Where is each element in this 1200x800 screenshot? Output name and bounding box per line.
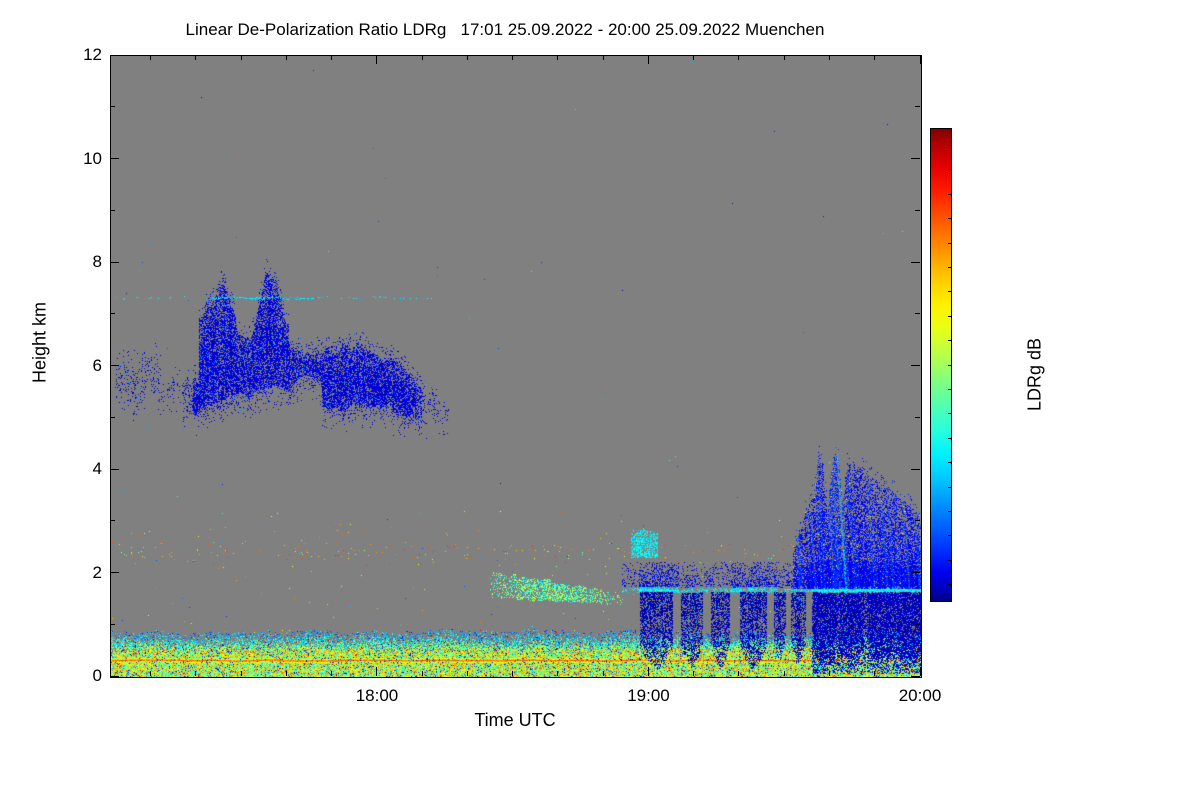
y-tick-label: 4 xyxy=(93,459,102,479)
colorbar-tick xyxy=(948,316,952,317)
x-tick-group xyxy=(110,55,920,676)
colorbar-tick xyxy=(948,535,952,536)
x-tick xyxy=(648,667,649,676)
x-tick xyxy=(512,55,513,60)
x-tick xyxy=(693,671,694,676)
x-tick xyxy=(422,671,423,676)
colorbar-tick xyxy=(948,584,952,585)
x-axis-title: Time UTC xyxy=(110,710,920,731)
x-tick xyxy=(829,55,830,60)
x-tick xyxy=(603,671,604,676)
colorbar-tick xyxy=(948,413,952,414)
colorbar-labels xyxy=(956,128,1016,600)
x-tick xyxy=(422,55,423,60)
colorbar-ticks xyxy=(930,128,952,600)
colorbar-title: LDRg dB xyxy=(1025,295,1046,455)
x-tick xyxy=(286,55,287,60)
x-tick xyxy=(920,55,921,64)
colorbar-tick xyxy=(948,340,952,341)
y-tick-label: 12 xyxy=(83,45,102,65)
x-tick xyxy=(331,55,332,60)
colorbar-tick xyxy=(948,169,952,170)
x-tick xyxy=(603,55,604,60)
y-tick-label: 10 xyxy=(83,149,102,169)
x-tick xyxy=(784,671,785,676)
colorbar-tick xyxy=(948,560,952,561)
x-tick xyxy=(693,55,694,60)
x-tick xyxy=(331,671,332,676)
x-tick xyxy=(376,55,377,64)
y-tick-label: 2 xyxy=(93,563,102,583)
x-tick xyxy=(150,671,151,676)
y-tick-label: 0 xyxy=(93,666,102,686)
x-tick xyxy=(241,671,242,676)
colorbar-tick xyxy=(948,462,952,463)
colorbar-tick xyxy=(948,365,952,366)
x-tick xyxy=(512,671,513,676)
y-axis-title: Height km xyxy=(30,283,51,403)
x-tick xyxy=(376,667,377,676)
colorbar-tick xyxy=(948,145,952,146)
x-axis-labels: 18:0019:0020:00 xyxy=(110,686,920,710)
figure-root: Linear De-Polarization Ratio LDRg 17:01 … xyxy=(0,0,1200,800)
colorbar-tick xyxy=(948,243,952,244)
x-tick xyxy=(557,671,558,676)
x-tick xyxy=(920,667,921,676)
x-tick xyxy=(648,55,649,64)
x-tick xyxy=(150,55,151,60)
x-tick-label: 18:00 xyxy=(356,686,399,706)
x-tick xyxy=(195,671,196,676)
x-tick xyxy=(241,55,242,60)
x-tick xyxy=(738,55,739,60)
colorbar-tick xyxy=(948,487,952,488)
x-tick xyxy=(874,671,875,676)
x-tick xyxy=(738,671,739,676)
colorbar-tick xyxy=(948,438,952,439)
chart-title: Linear De-Polarization Ratio LDRg 17:01 … xyxy=(0,20,1010,40)
colorbar-tick xyxy=(948,511,952,512)
x-tick xyxy=(195,55,196,60)
x-tick xyxy=(557,55,558,60)
x-tick xyxy=(784,55,785,60)
x-tick xyxy=(286,671,287,676)
colorbar-tick xyxy=(948,291,952,292)
x-tick xyxy=(467,55,468,60)
colorbar-tick xyxy=(948,389,952,390)
x-tick xyxy=(829,671,830,676)
x-tick-label: 19:00 xyxy=(627,686,670,706)
y-tick-label: 6 xyxy=(93,356,102,376)
x-tick xyxy=(467,671,468,676)
y-axis-labels: 024681012 xyxy=(58,55,102,676)
colorbar-tick xyxy=(948,194,952,195)
x-tick-label: 20:00 xyxy=(899,686,942,706)
y-tick-label: 8 xyxy=(93,252,102,272)
colorbar-tick xyxy=(948,267,952,268)
colorbar-tick xyxy=(948,218,952,219)
x-tick xyxy=(874,55,875,60)
